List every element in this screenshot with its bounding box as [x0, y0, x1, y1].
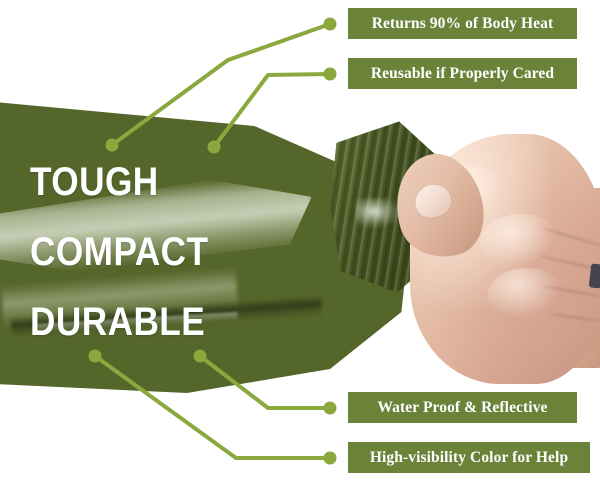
- callout-returns-body-heat: Returns 90% of Body Heat: [348, 8, 577, 39]
- skin-mark: [589, 263, 600, 288]
- callout-water-proof: Water Proof & Reflective: [348, 392, 577, 423]
- hand-gripping-product: [392, 110, 600, 396]
- overlay-word-compact: COMPACT: [30, 232, 208, 272]
- overlay-word-durable: DURABLE: [30, 302, 205, 342]
- knuckle: [480, 214, 562, 272]
- callout-reusable: Reusable if Properly Cared: [348, 58, 577, 89]
- overlay-word-tough: TOUGH: [30, 162, 159, 202]
- callout-high-visibility: High-visibility Color for Help: [348, 442, 590, 473]
- product-infographic: TOUGH COMPACT DURABLE Returns 90% of Bod…: [0, 0, 600, 481]
